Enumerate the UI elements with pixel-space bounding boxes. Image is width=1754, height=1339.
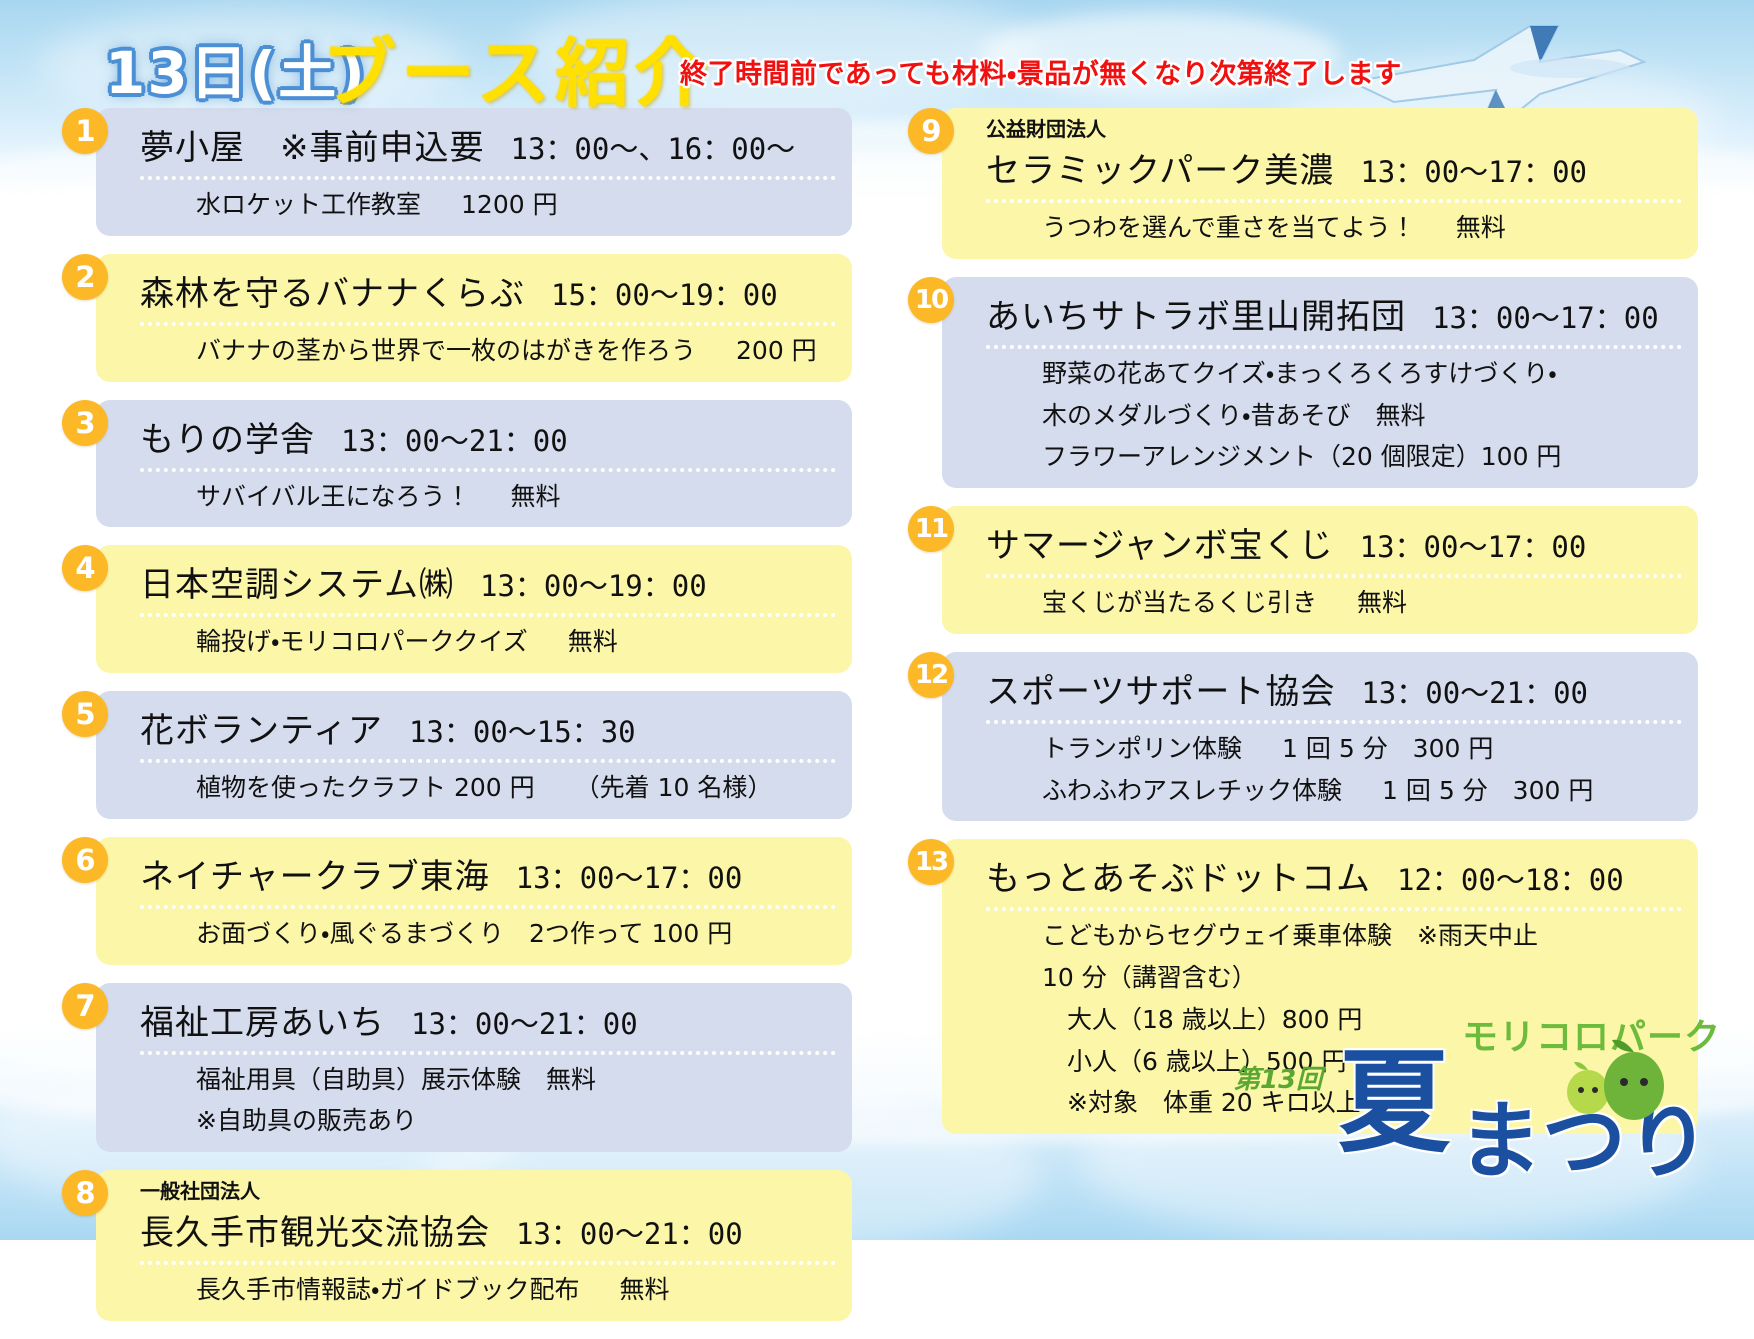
booth-name: 福祉工房あいち — [140, 995, 385, 1044]
booth-name: セラミックパーク美濃 — [986, 143, 1334, 192]
booth-detail-text: 福祉用具（自助具）展示体験 無料 — [196, 1065, 596, 1094]
booth-card: 森林を守るバナナくらぶ15：00〜19：00バナナの茎から世界で一枚のはがきを作… — [96, 254, 852, 382]
logo-natsu-char: 夏 — [1338, 1053, 1450, 1154]
booth-number-badge: 8 — [62, 1170, 108, 1216]
booth-card: もりの学舎13：00〜21：00サバイバル王になろう！無料 — [96, 400, 852, 528]
booth-time: 13：00〜17：00 — [1432, 295, 1659, 337]
booth-detail-text: 長久手市情報誌・ガイドブック配布 — [196, 1273, 580, 1307]
booth-list-left: 1夢小屋 ※事前申込要13：00〜、16：00〜水ロケット工作教室1200 円2… — [62, 108, 852, 1339]
booth-number-badge: 10 — [908, 277, 954, 323]
booth-detail-text: 10 分（講習含む） — [1042, 963, 1257, 992]
page-title: ブース紹介 — [322, 14, 713, 121]
booth-detail-line: バナナの茎から世界で一枚のはがきを作ろう200 円 — [196, 334, 836, 368]
booth-org-prefix: 一般社団法人 — [140, 1180, 836, 1203]
booth-name: 夢小屋 ※事前申込要 — [140, 120, 485, 169]
booth-number-badge: 5 — [62, 691, 108, 737]
booth-name: ネイチャークラブ東海 — [140, 849, 490, 898]
booth-time: 13：00〜21：00 — [411, 1001, 638, 1043]
booth-card: あいちサトラボ里山開拓団13：00〜17：00野菜の花あてクイズ・まっくろくろす… — [942, 277, 1698, 488]
booth-detail-text: サバイバル王になろう！ — [196, 480, 471, 514]
booth-header-row: 森林を守るバナナくらぶ15：00〜19：00 — [140, 266, 836, 326]
booth-detail-line: うつわを選んで重さを当てよう！無料 — [1042, 211, 1682, 245]
booth-item: 1夢小屋 ※事前申込要13：00〜、16：00〜水ロケット工作教室1200 円 — [62, 108, 852, 236]
booth-time: 13：00〜15：30 — [409, 709, 636, 751]
booth-name: 花ボランティア — [140, 703, 383, 752]
booth-detail-text: 輪投げ・モリコロパーククイズ — [196, 625, 528, 659]
booth-number-badge: 1 — [62, 108, 108, 154]
booth-name: 森林を守るバナナくらぶ — [140, 266, 525, 315]
booth-detail-line: 福祉用具（自助具）展示体験 無料 — [196, 1063, 836, 1097]
booth-detail-line: サバイバル王になろう！無料 — [196, 480, 836, 514]
booth-detail-text: 宝くじが当たるくじ引き — [1042, 586, 1317, 620]
booth-detail-text: 野菜の花あてクイズ・まっくろくろすけづくり・ — [1042, 359, 1557, 388]
booth-time: 13：00〜17：00 — [1360, 524, 1587, 566]
booth-number-badge: 2 — [62, 254, 108, 300]
booth-item: 10あいちサトラボ里山開拓団13：00〜17：00野菜の花あてクイズ・まっくろく… — [908, 277, 1698, 488]
booth-time: 12：00〜18：00 — [1397, 857, 1624, 899]
booth-item: 6ネイチャークラブ東海13：00〜17：00お面づくり・風ぐるまづくり 2つ作っ… — [62, 837, 852, 965]
booth-card: 花ボランティア13：00〜15：30植物を使ったクラフト 200 円（先着 10… — [96, 691, 852, 819]
booth-number-badge: 11 — [908, 506, 954, 552]
booth-header-row: 福祉工房あいち13：00〜21：00 — [140, 995, 836, 1055]
mascot-morizo-icon — [1600, 1038, 1668, 1124]
booth-detail-text: バナナの茎から世界で一枚のはがきを作ろう — [196, 334, 696, 368]
booth-header-row: サマージャンボ宝くじ13：00〜17：00 — [986, 518, 1682, 578]
booth-detail-text: お面づくり・風ぐるまづくり 2つ作って 100 円 — [196, 919, 732, 948]
booth-detail-text: ふわふわアスレチック体験 — [1042, 774, 1342, 808]
booth-card: 公益財団法人セラミックパーク美濃13：00〜17：00うつわを選んで重さを当てよ… — [942, 108, 1698, 259]
booth-detail-text: フラワーアレンジメント（20 個限定）100 円 — [1042, 442, 1561, 471]
booth-name: サマージャンボ宝くじ — [986, 518, 1334, 567]
booth-detail-price: 無料 — [1357, 586, 1407, 620]
booth-number-badge: 3 — [62, 400, 108, 446]
festival-logo: 第13回 夏 モリコロパーク まつり — [1226, 988, 1696, 1188]
booth-detail-line: 野菜の花あてクイズ・まっくろくろすけづくり・ — [1042, 357, 1682, 391]
booth-detail-text: 植物を使ったクラフト 200 円 — [196, 771, 535, 805]
booth-detail-price: 1 回 5 分 300 円 — [1282, 732, 1493, 766]
booth-card: スポーツサポート協会13：00〜21：00トランポリン体験1 回 5 分 300… — [942, 652, 1698, 822]
booth-detail-text: 木のメダルづくり・昔あそび 無料 — [1042, 401, 1426, 430]
booth-card: 福祉工房あいち13：00〜21：00福祉用具（自助具）展示体験 無料※自助具の販… — [96, 983, 852, 1153]
booth-item: 4日本空調システム㈱13：00〜19：00輪投げ・モリコロパーククイズ無料 — [62, 545, 852, 673]
booth-header-row: 夢小屋 ※事前申込要13：00〜、16：00〜 — [140, 120, 836, 180]
booth-detail-price: 1200 円 — [461, 188, 558, 222]
booth-number-badge: 9 — [908, 108, 954, 154]
booth-detail-price: 無料 — [511, 480, 561, 514]
booth-item: 11サマージャンボ宝くじ13：00〜17：00宝くじが当たるくじ引き無料 — [908, 506, 1698, 634]
booth-detail-line: 水ロケット工作教室1200 円 — [196, 188, 836, 222]
booth-card: 夢小屋 ※事前申込要13：00〜、16：00〜水ロケット工作教室1200 円 — [96, 108, 852, 236]
booth-number-badge: 4 — [62, 545, 108, 591]
booth-time: 13：00〜、16：00〜 — [511, 126, 796, 168]
booth-name: あいちサトラボ里山開拓団 — [986, 289, 1406, 338]
booth-detail-price: （先着 10 名様） — [575, 771, 773, 805]
booth-number-badge: 12 — [908, 652, 954, 698]
booth-number-badge: 7 — [62, 983, 108, 1029]
booth-item: 9公益財団法人セラミックパーク美濃13：00〜17：00うつわを選んで重さを当て… — [908, 108, 1698, 259]
booth-detail-line: 輪投げ・モリコロパーククイズ無料 — [196, 625, 836, 659]
booth-detail-price: 無料 — [568, 625, 618, 659]
booth-number-badge: 6 — [62, 837, 108, 883]
booth-detail-text: ※自助具の販売あり — [196, 1106, 417, 1135]
booth-header-row: 日本空調システム㈱13：00〜19：00 — [140, 557, 836, 617]
header-notice: 終了時間前であっても材料・景品が無くなり次第終了します — [680, 52, 1402, 91]
booth-detail-line: ※自助具の販売あり — [196, 1104, 836, 1138]
booth-detail-line: トランポリン体験1 回 5 分 300 円 — [1042, 732, 1682, 766]
booth-org-prefix: 公益財団法人 — [986, 118, 1682, 141]
booth-detail-price: 1 回 5 分 300 円 — [1382, 774, 1593, 808]
booth-detail-line: 木のメダルづくり・昔あそび 無料 — [1042, 399, 1682, 433]
booth-detail-text: トランポリン体験 — [1042, 732, 1242, 766]
booth-header-row: スポーツサポート協会13：00〜21：00 — [986, 664, 1682, 724]
booth-detail-line: こどもからセグウェイ乗車体験 ※雨天中止 — [1042, 919, 1682, 953]
page-header: 13日(土) ブース紹介 終了時間前であっても材料・景品が無くなり次第終了します — [0, 0, 1754, 110]
booth-detail-line: 植物を使ったクラフト 200 円（先着 10 名様） — [196, 771, 836, 805]
booth-detail-text: 水ロケット工作教室 — [196, 188, 421, 222]
booth-name: 日本空調システム㈱ — [140, 557, 454, 606]
booth-detail-price: 200 円 — [736, 334, 817, 368]
booth-time: 15：00〜19：00 — [551, 272, 778, 314]
booth-time: 13：00〜17：00 — [516, 855, 743, 897]
booth-item: 3もりの学舎13：00〜21：00サバイバル王になろう！無料 — [62, 400, 852, 528]
booth-item: 8一般社団法人長久手市観光交流協会13：00〜21：00長久手市情報誌・ガイドブ… — [62, 1170, 852, 1321]
booth-number-badge: 13 — [908, 839, 954, 885]
booth-time: 13：00〜21：00 — [516, 1211, 743, 1253]
booth-header-row: セラミックパーク美濃13：00〜17：00 — [986, 143, 1682, 203]
booth-card: サマージャンボ宝くじ13：00〜17：00宝くじが当たるくじ引き無料 — [942, 506, 1698, 634]
booth-card: 一般社団法人長久手市観光交流協会13：00〜21：00長久手市情報誌・ガイドブッ… — [96, 1170, 852, 1321]
booth-detail-line: 宝くじが当たるくじ引き無料 — [1042, 586, 1682, 620]
booth-header-row: ネイチャークラブ東海13：00〜17：00 — [140, 849, 836, 909]
booth-header-row: もっとあそぶドットコム12：00〜18：00 — [986, 851, 1682, 911]
booth-card: 日本空調システム㈱13：00〜19：00輪投げ・モリコロパーククイズ無料 — [96, 545, 852, 673]
booth-detail-line: ふわふわアスレチック体験1 回 5 分 300 円 — [1042, 774, 1682, 808]
booth-item: 5花ボランティア13：00〜15：30植物を使ったクラフト 200 円（先着 1… — [62, 691, 852, 819]
booth-name: 長久手市観光交流協会 — [140, 1205, 490, 1254]
booth-detail-text: うつわを選んで重さを当てよう！ — [1042, 211, 1416, 245]
booth-detail-line: フラワーアレンジメント（20 個限定）100 円 — [1042, 440, 1682, 474]
logo-park-name: モリコロパーク — [1462, 1008, 1721, 1060]
booth-time: 13：00〜21：00 — [1361, 670, 1588, 712]
booth-time: 13：00〜19：00 — [480, 563, 707, 605]
logo-edition-label: 第13回 — [1234, 1059, 1322, 1096]
booth-name: もっとあそぶドットコム — [986, 851, 1371, 900]
booth-card: ネイチャークラブ東海13：00〜17：00お面づくり・風ぐるまづくり 2つ作って… — [96, 837, 852, 965]
booth-item: 12スポーツサポート協会13：00〜21：00トランポリン体験1 回 5 分 3… — [908, 652, 1698, 822]
booth-item: 7福祉工房あいち13：00〜21：00福祉用具（自助具）展示体験 無料※自助具の… — [62, 983, 852, 1153]
booth-header-row: もりの学舎13：00〜21：00 — [140, 412, 836, 472]
booth-header-row: 長久手市観光交流協会13：00〜21：00 — [140, 1205, 836, 1265]
booth-item: 2森林を守るバナナくらぶ15：00〜19：00バナナの茎から世界で一枚のはがきを… — [62, 254, 852, 382]
booth-name: スポーツサポート協会 — [986, 664, 1335, 713]
booth-detail-line: お面づくり・風ぐるまづくり 2つ作って 100 円 — [196, 917, 836, 951]
booth-time: 13：00〜17：00 — [1360, 149, 1587, 191]
booth-detail-price: 無料 — [620, 1273, 670, 1307]
booth-detail-text: こどもからセグウェイ乗車体験 ※雨天中止 — [1042, 921, 1538, 950]
booth-header-row: 花ボランティア13：00〜15：30 — [140, 703, 836, 763]
booth-header-row: あいちサトラボ里山開拓団13：00〜17：00 — [986, 289, 1682, 349]
booth-detail-line: 長久手市情報誌・ガイドブック配布無料 — [196, 1273, 836, 1307]
booth-name: もりの学舎 — [140, 412, 315, 461]
booth-detail-price: 無料 — [1456, 211, 1506, 245]
booth-time: 13：00〜21：00 — [341, 418, 568, 460]
